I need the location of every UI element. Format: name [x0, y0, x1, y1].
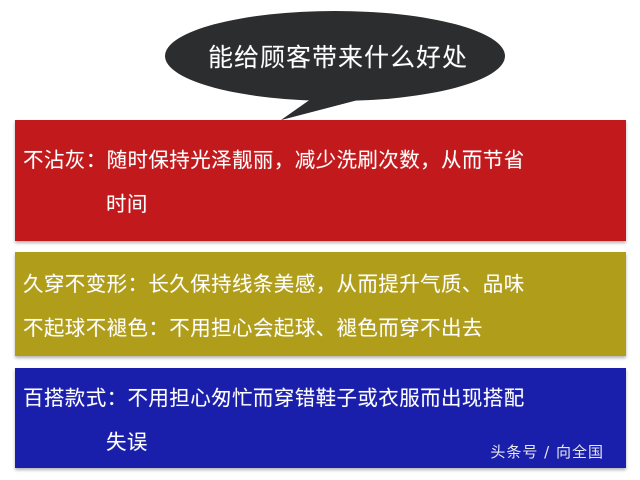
watermark-label: 头条号 / 向全国	[490, 441, 604, 462]
speech-bubble: 能给顾客带来什么好处	[163, 8, 513, 123]
speech-bubble-text: 能给顾客带来什么好处	[163, 8, 513, 103]
benefit-line: 不起球不褪色：不用担心会起球、褪色而穿不出去	[23, 306, 618, 350]
benefit-line: 时间	[23, 182, 618, 226]
benefit-box-blue: 百搭款式：不用担心匆忙而穿错鞋子或衣服而出现搭配 失误 头条号 / 向全国	[15, 368, 626, 468]
benefit-line: 久穿不变形：长久保持线条美感，从而提升气质、品味	[23, 262, 618, 306]
benefit-line: 百搭款式：不用担心匆忙而穿错鞋子或衣服而出现搭配	[23, 376, 618, 420]
benefit-box-red: 不沾灰：随时保持光泽靓丽，减少洗刷次数，从而节省 时间	[15, 120, 626, 241]
benefit-line: 不沾灰：随时保持光泽靓丽，减少洗刷次数，从而节省	[23, 138, 618, 182]
poster-canvas: 能给顾客带来什么好处 不沾灰：随时保持光泽靓丽，减少洗刷次数，从而节省 时间 久…	[0, 0, 640, 480]
benefit-box-yellow: 久穿不变形：长久保持线条美感，从而提升气质、品味 不起球不褪色：不用担心会起球、…	[15, 252, 626, 356]
